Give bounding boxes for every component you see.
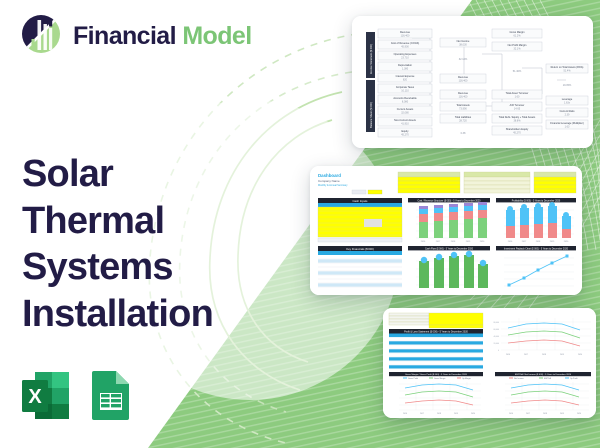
svg-text:Cash Flow ($ 000) - 5 Years to: Cash Flow ($ 000) - 5 Years to December …: [425, 247, 474, 250]
svg-text:Balance Sheet ($ 000): Balance Sheet ($ 000): [369, 102, 373, 128]
svg-text:41,910: 41,910: [401, 123, 409, 126]
title-line-2: Thermal: [22, 198, 213, 244]
excel-file-icon[interactable]: X: [21, 369, 70, 422]
svg-text:51.4%: 51.4%: [563, 70, 571, 73]
svg-text:0: 0: [498, 350, 499, 352]
title-line-1: Solar: [22, 151, 213, 197]
svg-text:28,720: 28,720: [459, 120, 467, 123]
financial-dashboard-preview[interactable]: Dashboard Company Name Monthly & Annual …: [310, 166, 582, 295]
svg-text:40,000: 40,000: [494, 336, 500, 338]
svg-text:45,270: 45,270: [401, 134, 409, 137]
svg-text:2020: 2020: [471, 413, 475, 415]
title-line-4: Installation: [22, 291, 213, 337]
svg-text:61.2%: 61.2%: [513, 35, 521, 38]
svg-text:80,000: 80,000: [494, 322, 500, 324]
svg-text:Gross Profit: Gross Profit: [408, 377, 418, 380]
svg-text:32.12%: 32.12%: [459, 58, 468, 61]
svg-text:Cost / Revenue Structure ($ 00: Cost / Revenue Structure ($ 000) - 5 Yea…: [418, 199, 482, 202]
title-line-3: Systems: [22, 244, 213, 290]
svg-text:38.8%: 38.8%: [513, 120, 521, 123]
page-title: Solar Thermal Systems Installation: [22, 151, 213, 336]
svg-text:Gross Margin: Gross Margin: [434, 377, 445, 380]
svg-text:Key Financials ($'000): Key Financials ($'000): [346, 247, 374, 251]
svg-text:1.60: 1.60: [515, 96, 520, 99]
svg-text:118,400: 118,400: [401, 35, 410, 38]
svg-text:38,030: 38,030: [459, 44, 467, 47]
svg-text:19.05%: 19.05%: [563, 84, 572, 87]
svg-text:51.40%: 51.40%: [513, 70, 522, 73]
svg-text:Company Name: Company Name: [318, 179, 340, 183]
svg-text:45,270: 45,270: [513, 132, 521, 135]
svg-text:620: 620: [403, 79, 408, 82]
svg-text:73,990: 73,990: [459, 108, 467, 111]
svg-text:20,000: 20,000: [494, 343, 500, 345]
svg-text:Investment Payback Chart ($ 00: Investment Payback Chart ($ 000) - 5 Yea…: [504, 247, 569, 250]
svg-text:32.1%: 32.1%: [513, 48, 521, 51]
file-format-icons: X: [21, 369, 136, 422]
svg-text:Dashboard: Dashboard: [318, 173, 341, 178]
svg-text:23,710: 23,710: [401, 57, 409, 60]
svg-text:2020: 2020: [577, 413, 581, 415]
svg-text:Cash Inputs: Cash Inputs: [353, 199, 369, 203]
google-sheets-file-icon[interactable]: [87, 369, 136, 422]
svg-text:Profitability ($ 000) - 5 Year: Profitability ($ 000) - 5 Years to Decem…: [512, 199, 561, 202]
svg-text:Income Statement ($ 000): Income Statement ($ 000): [369, 44, 373, 74]
svg-text:2018: 2018: [542, 354, 546, 356]
svg-text:60,000: 60,000: [494, 329, 500, 331]
svg-text:Monthly & Annual Summary: Monthly & Annual Summary: [318, 184, 348, 187]
svg-text:118,400: 118,400: [459, 96, 468, 99]
svg-text:10,110: 10,110: [401, 90, 409, 93]
svg-text:2019: 2019: [454, 413, 458, 415]
svg-text:2016: 2016: [509, 413, 513, 415]
financial-model-circle-logo: [20, 13, 62, 60]
slide-canvas: Financial Model Solar Thermal Systems In…: [0, 0, 600, 448]
svg-text:Gross Margin / Gross Profit ($: Gross Margin / Gross Profit ($ 000) - 5 …: [405, 373, 468, 376]
svg-text:2.39: 2.39: [565, 114, 570, 117]
svg-text:2020: 2020: [578, 354, 582, 356]
svg-text:2016: 2016: [403, 413, 407, 415]
svg-text:Net Income: Net Income: [514, 377, 524, 380]
svg-text:X: X: [28, 386, 42, 408]
svg-text:2018: 2018: [543, 413, 547, 415]
svg-text:EBITDA / Net Income ($ 000) -: EBITDA / Net Income ($ 000) - 5 Years to…: [515, 373, 572, 376]
svg-text:1.63x: 1.63x: [564, 102, 571, 105]
brand-word-model: Model: [182, 22, 251, 50]
svg-text:14.65: 14.65: [514, 108, 521, 111]
svg-text:Profit & Loss Statement ($ 000: Profit & Loss Statement ($ 000) - 5 Year…: [404, 330, 468, 333]
svg-text:2016: 2016: [506, 354, 510, 356]
svg-text:32,080: 32,080: [401, 112, 409, 115]
brand-wordmark: Financial Model: [73, 24, 252, 49]
financial-statements-preview[interactable]: Profit & Loss Statement ($ 000) - 5 Year…: [383, 308, 596, 418]
svg-text:8,080: 8,080: [402, 101, 409, 104]
svg-text:2017: 2017: [524, 354, 528, 356]
svg-text:1,380: 1,380: [402, 68, 409, 71]
svg-text:2018: 2018: [437, 413, 441, 415]
svg-text:2017: 2017: [420, 413, 424, 415]
svg-text:0.38: 0.38: [461, 132, 466, 135]
dupont-analysis-flowchart-preview[interactable]: Income Statement ($ 000) Balance Sheet (…: [352, 16, 593, 148]
brand-word-financial: Financial: [73, 22, 176, 50]
svg-text:118,400: 118,400: [459, 80, 468, 83]
svg-text:EBITDA: EBITDA: [544, 377, 552, 380]
svg-text:Op Margin: Op Margin: [462, 377, 471, 380]
svg-text:2019: 2019: [560, 413, 564, 415]
svg-text:2017: 2017: [526, 413, 530, 415]
svg-text:Op Profit: Op Profit: [570, 377, 578, 380]
svg-text:2019: 2019: [560, 354, 564, 356]
brand-lockup: Financial Model: [20, 13, 252, 60]
svg-text:1.63: 1.63: [565, 126, 570, 129]
svg-text:45,900: 45,900: [401, 46, 409, 49]
